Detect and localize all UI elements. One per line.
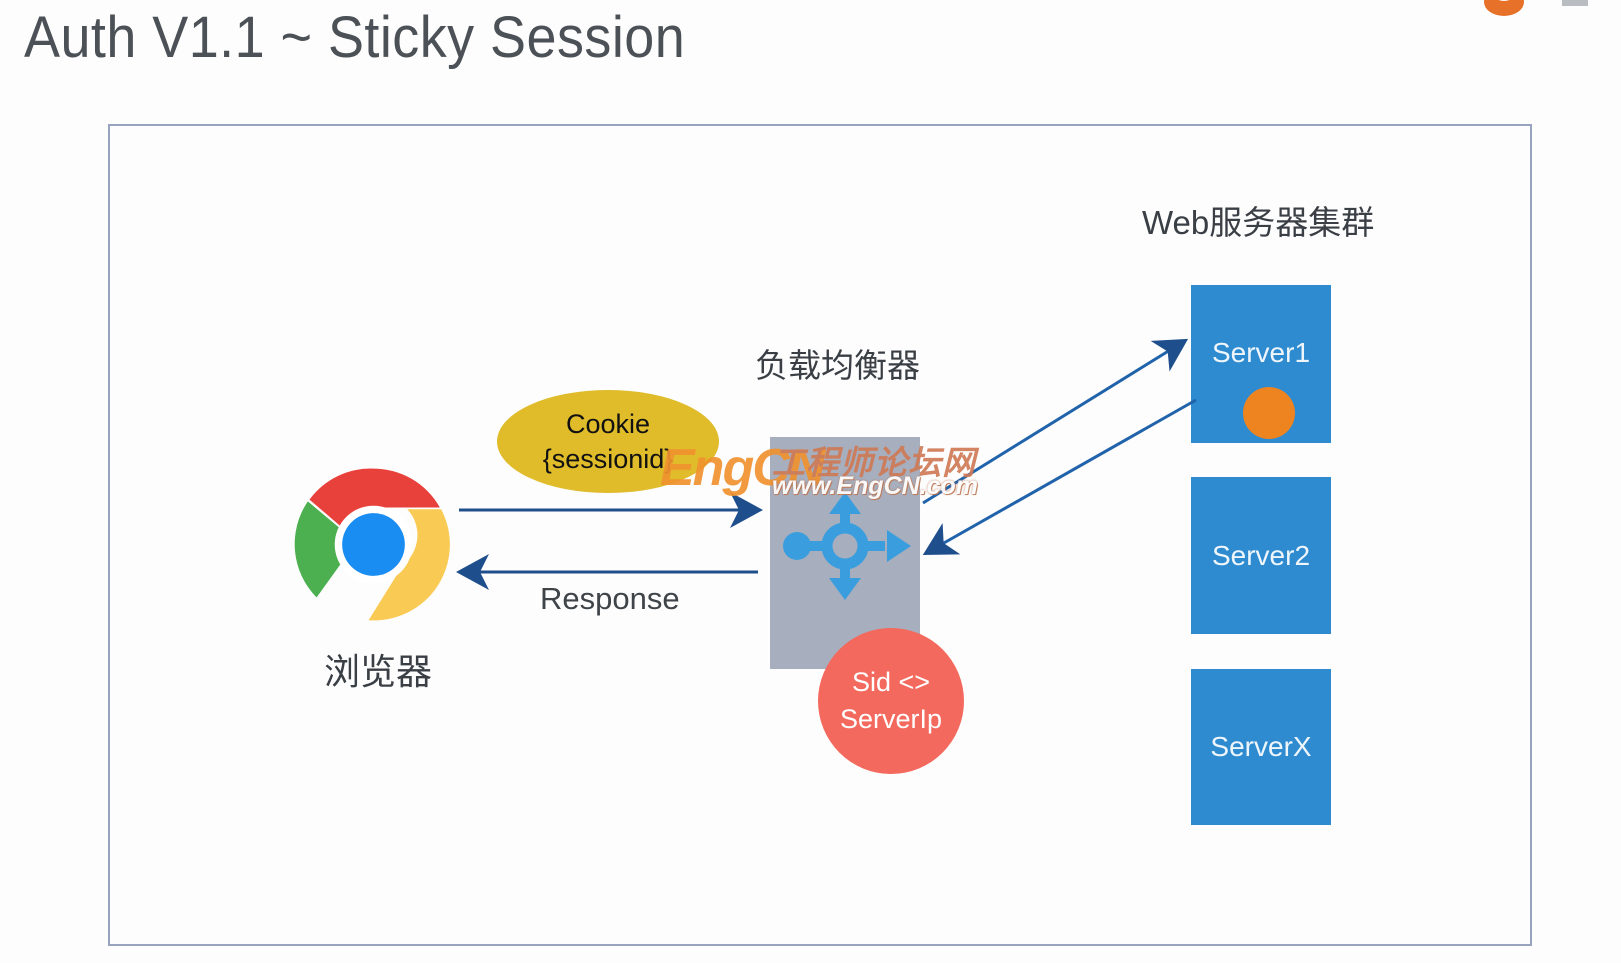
server2-label: Server2 xyxy=(1212,540,1310,572)
browser-label: 浏览器 xyxy=(324,652,432,692)
slide-canvas: Auth V1.1 ~ Sticky Session Web服务器集群 负载均衡… xyxy=(0,0,1621,963)
serverx-label: ServerX xyxy=(1210,731,1311,763)
sid-server-mapping-bubble: Sid <> ServerIp xyxy=(818,628,964,774)
server-box-server2: Server2 xyxy=(1191,477,1331,634)
chrome-logo-icon xyxy=(291,462,456,627)
server-box-serverx: ServerX xyxy=(1191,669,1331,825)
response-arrow-label: Response xyxy=(540,581,680,617)
sid-bubble-line1: Sid <> xyxy=(852,664,930,701)
orange-dot-icon xyxy=(1243,387,1295,439)
server-cluster-label: Web服务器集群 xyxy=(1142,203,1374,243)
load-balancer-label: 负载均衡器 xyxy=(755,346,920,386)
page-title: Auth V1.1 ~ Sticky Session xyxy=(24,2,685,74)
sid-bubble-line2: ServerIp xyxy=(840,701,942,738)
corner-orange-icon xyxy=(1484,0,1524,16)
network-hub-icon xyxy=(777,490,913,602)
server1-label: Server1 xyxy=(1191,337,1331,369)
cookie-bubble: Cookie {sessionid} xyxy=(497,390,719,493)
corner-gray-icon xyxy=(1562,0,1588,6)
cookie-bubble-line2: {sessionid} xyxy=(543,442,674,477)
cookie-bubble-line1: Cookie xyxy=(566,407,650,442)
